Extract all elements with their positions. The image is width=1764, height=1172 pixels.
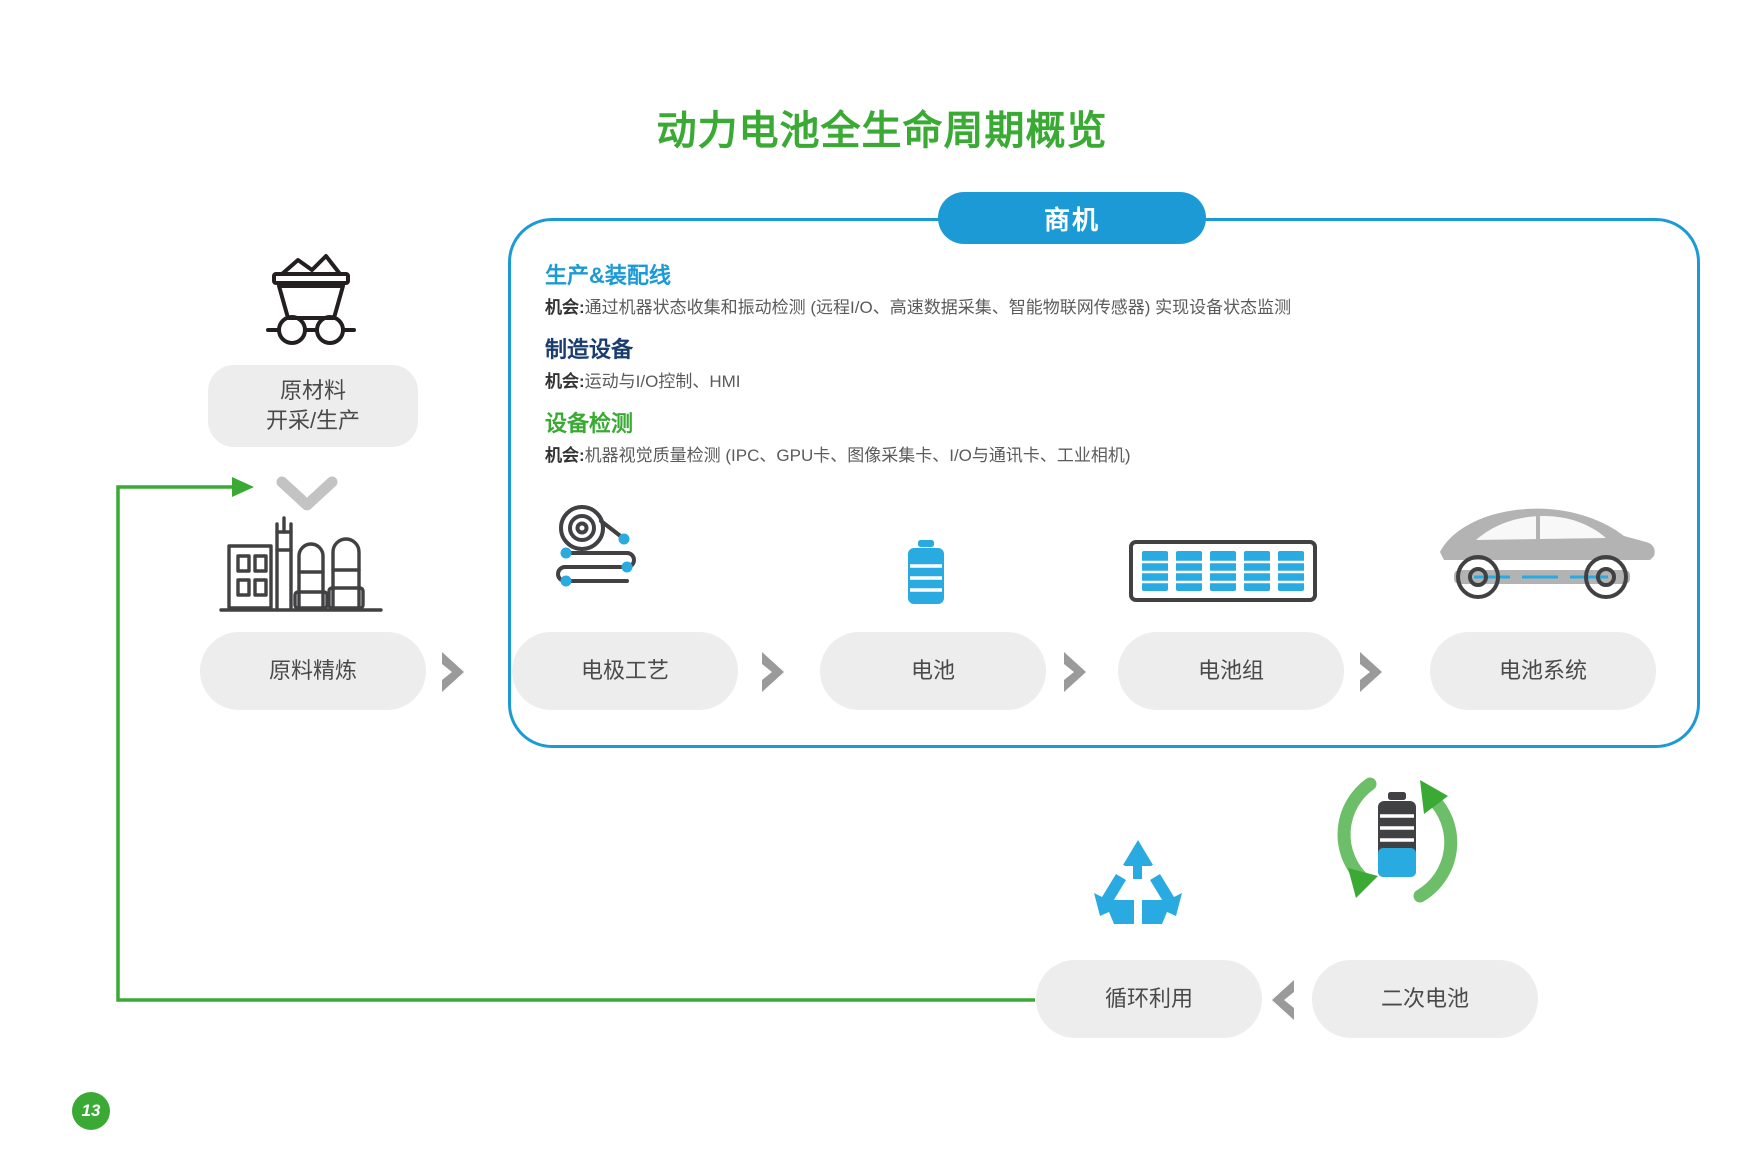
- opportunity-label-inspection: 机会:: [545, 446, 585, 465]
- stage-pill-raw-material[interactable]: 原材料 开采/生产: [208, 365, 418, 447]
- opportunity-group-inspection: 设备检测 机会:机器视觉质量检测 (IPC、GPU卡、图像采集卡、I/O与通讯卡…: [545, 410, 1665, 468]
- stage-label-raw-material-line2: 开采/生产: [266, 408, 360, 433]
- stage-pill-electrode[interactable]: 电极工艺: [512, 632, 738, 710]
- recycle-icon: [1090, 838, 1186, 930]
- refinery-plant-icon: [215, 510, 390, 620]
- page-title: 动力电池全生命周期概览: [0, 98, 1764, 156]
- mine-cart-icon: [252, 240, 370, 350]
- battery-cell-icon: [898, 538, 954, 608]
- stage-label-recycle: 循环利用: [1105, 984, 1193, 1013]
- chevron-right-icon-2: [760, 650, 786, 694]
- opportunity-text-block: 生产&装配线 机会:通过机器状态收集和振动检测 (远程I/O、高速数据采集、智能…: [545, 262, 1665, 485]
- chevron-left-icon-recycle: [1270, 978, 1296, 1022]
- opportunity-heading-inspection: 设备检测: [545, 410, 1665, 439]
- chevron-right-icon-3: [1062, 650, 1088, 694]
- stage-pill-refining[interactable]: 原料精炼: [200, 632, 426, 710]
- chevron-right-icon-4: [1358, 650, 1384, 694]
- stage-label-refining: 原料精炼: [269, 656, 357, 685]
- electrode-roll-icon: [545, 505, 655, 605]
- opportunity-heading-equipment: 制造设备: [545, 336, 1665, 365]
- opportunity-badge: 商机: [938, 192, 1206, 244]
- opportunity-heading-production: 生产&装配线: [545, 262, 1665, 291]
- stage-label-module: 电池组: [1198, 656, 1264, 685]
- stage-pill-cell[interactable]: 电池: [820, 632, 1046, 710]
- opportunity-body-inspection: 机器视觉质量检测 (IPC、GPU卡、图像采集卡、I/O与通讯卡、工业相机): [585, 446, 1131, 465]
- stage-label-cell: 电池: [911, 656, 955, 685]
- opportunity-line-equipment: 机会:运动与I/O控制、HMI: [545, 370, 1665, 395]
- stage-label-raw-material: 原材料 开采/生产: [266, 376, 360, 435]
- opportunity-group-production: 生产&装配线 机会:通过机器状态收集和振动检测 (远程I/O、高速数据采集、智能…: [545, 262, 1665, 320]
- electric-car-icon: [1418, 498, 1658, 610]
- opportunity-group-equipment: 制造设备 机会:运动与I/O控制、HMI: [545, 336, 1665, 394]
- stage-label-electrode: 电极工艺: [581, 656, 669, 685]
- second-life-battery-icon: [1308, 748, 1488, 928]
- opportunity-line-inspection: 机会:机器视觉质量检测 (IPC、GPU卡、图像采集卡、I/O与通讯卡、工业相机…: [545, 444, 1665, 469]
- stage-label-pack: 电池系统: [1499, 656, 1587, 685]
- chevron-right-icon-1: [440, 650, 466, 694]
- stage-pill-pack[interactable]: 电池系统: [1430, 632, 1656, 710]
- opportunity-label-production: 机会:: [545, 298, 585, 317]
- battery-module-icon: [1129, 540, 1317, 602]
- opportunity-label-equipment: 机会:: [545, 372, 585, 391]
- stage-pill-module[interactable]: 电池组: [1118, 632, 1344, 710]
- stage-pill-recycle[interactable]: 循环利用: [1036, 960, 1262, 1038]
- page-number-badge: 13: [72, 1092, 110, 1130]
- stage-pill-second-life[interactable]: 二次电池: [1312, 960, 1538, 1038]
- opportunity-body-production: 通过机器状态收集和振动检测 (远程I/O、高速数据采集、智能物联网传感器) 实现…: [585, 298, 1291, 317]
- opportunity-line-production: 机会:通过机器状态收集和振动检测 (远程I/O、高速数据采集、智能物联网传感器)…: [545, 296, 1665, 321]
- stage-label-raw-material-line1: 原材料: [280, 378, 346, 403]
- opportunity-body-equipment: 运动与I/O控制、HMI: [585, 372, 741, 391]
- stage-label-second-life: 二次电池: [1381, 984, 1469, 1013]
